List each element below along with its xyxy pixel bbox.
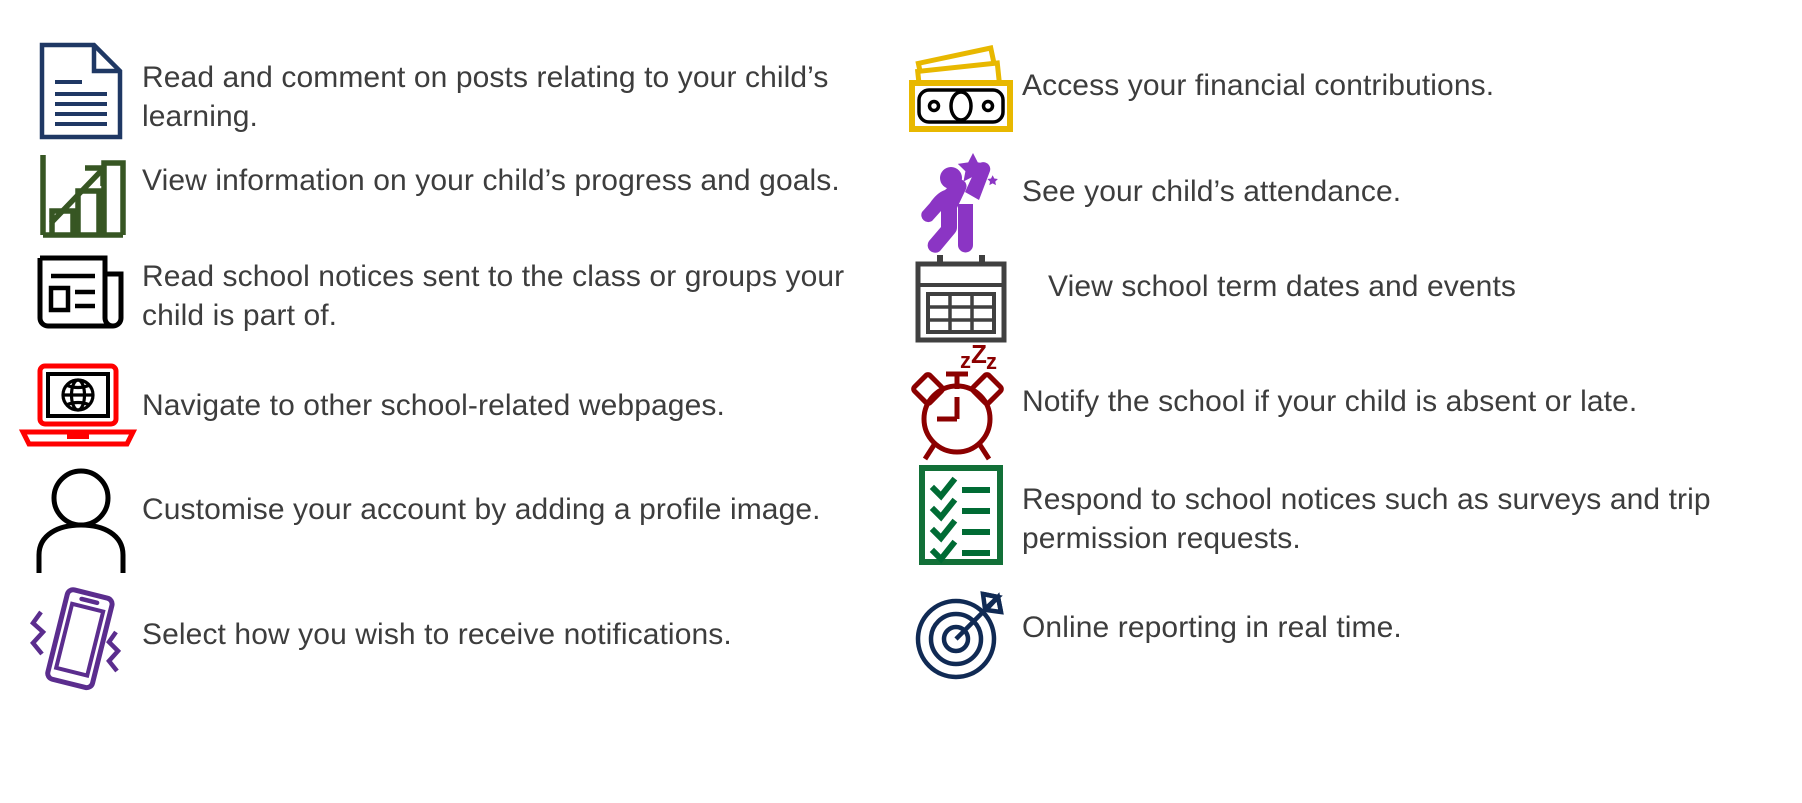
feature-item-notification-preferences: Select how you wish to receive notificat… <box>12 575 882 700</box>
feature-item-label: Notify the school if your child is absen… <box>1022 338 1782 421</box>
person-profile-icon <box>20 460 142 575</box>
feature-item-respond-notices: Respond to school notices such as survey… <box>900 460 1800 570</box>
feature-item-financial-contributions: Access your financial contributions. <box>900 38 1800 138</box>
feature-item-navigate-webpages: Navigate to other school-related webpage… <box>12 350 882 460</box>
feature-item-label: Customise your account by adding a profi… <box>142 460 862 529</box>
feature-list-page: Read and comment on posts relating to yo… <box>0 0 1802 803</box>
laptop-globe-icon <box>12 350 142 460</box>
calendar-icon <box>900 245 1022 350</box>
feature-item-term-dates-events: View school term dates and events <box>900 245 1800 350</box>
feature-item-child-attendance: See your child’s attendance. <box>900 140 1800 250</box>
sleep-zzz-label: z <box>960 348 971 373</box>
checklist-icon <box>900 460 1022 570</box>
feature-item-read-comment-posts: Read and comment on posts relating to yo… <box>20 38 880 143</box>
document-lines-icon <box>20 38 142 143</box>
feature-item-read-school-notices: Read school notices sent to the class or… <box>20 245 880 337</box>
feature-item-child-progress: View information on your child’s progres… <box>20 145 880 245</box>
feature-item-label: Read and comment on posts relating to yo… <box>142 38 862 136</box>
feature-item-label: Read school notices sent to the class or… <box>142 245 862 335</box>
feature-item-label: Online reporting in real time. <box>1022 578 1782 647</box>
svg-text:Z: Z <box>971 339 987 369</box>
feature-item-notify-absence: z Z z Notify the school if <box>900 338 1800 463</box>
bar-chart-growth-icon <box>20 145 142 245</box>
running-person-stars-icon <box>900 140 1022 250</box>
feature-item-customise-profile: Customise your account by adding a profi… <box>20 460 880 575</box>
feature-item-label: See your child’s attendance. <box>1022 140 1782 211</box>
feature-item-label: Respond to school notices such as survey… <box>1022 460 1782 558</box>
feature-item-label: View information on your child’s progres… <box>142 145 862 200</box>
feature-item-label: Navigate to other school-related webpage… <box>142 350 882 425</box>
vibrating-phone-icon <box>12 575 142 700</box>
feature-item-label: Select how you wish to receive notificat… <box>142 575 882 654</box>
alarm-clock-sleep-icon: z Z z <box>900 338 1022 463</box>
feature-item-label: Access your financial contributions. <box>1022 38 1782 105</box>
feature-item-label: View school term dates and events <box>1022 245 1762 306</box>
target-arrow-icon <box>900 578 1022 688</box>
newspaper-icon <box>20 245 142 337</box>
banknotes-money-icon <box>900 38 1022 138</box>
svg-text:z: z <box>986 349 997 374</box>
feature-item-online-reporting: Online reporting in real time. <box>900 578 1800 688</box>
